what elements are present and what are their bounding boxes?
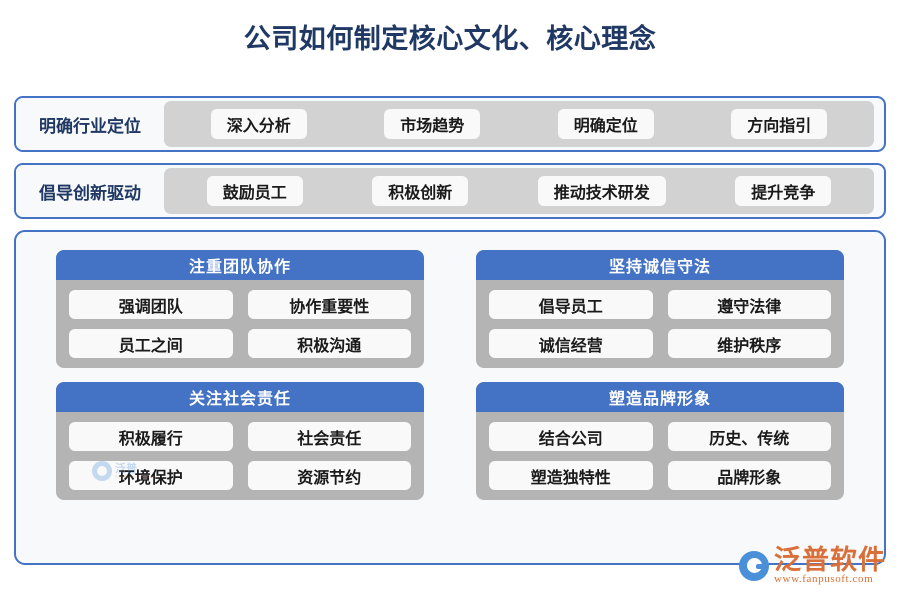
card-header: 坚持诚信守法 [476,250,844,280]
row-item-pill[interactable]: 市场趋势 [384,109,480,139]
brand-logo: 泛普软件 www.fanpusoft.com [739,542,886,590]
card-item-pill[interactable]: 品牌形象 [668,461,832,490]
row-item-pill[interactable]: 提升竞争 [735,176,831,206]
page-title: 公司如何制定核心文化、核心理念 [0,20,900,58]
card-brand-image: 塑造品牌形象 结合公司 历史、传统 塑造独特性 品牌形象 [476,382,844,500]
card-body: 积极履行 社会责任 环境保护 资源节约 [56,412,424,490]
row-item-pill[interactable]: 积极创新 [372,176,468,206]
card-item-pill[interactable]: 资源节约 [248,461,412,490]
cards-grid: 注重团队协作 强调团队 协作重要性 员工之间 积极沟通 坚持诚信守法 倡导员工 … [56,250,848,500]
top-row-industry-positioning: 明确行业定位 深入分析 市场趋势 明确定位 方向指引 [14,96,886,152]
card-item-pill[interactable]: 结合公司 [489,422,653,451]
diagram-page: 公司如何制定核心文化、核心理念 明确行业定位 深入分析 市场趋势 明确定位 方向… [0,0,900,600]
card-item-pill[interactable]: 塑造独特性 [489,461,653,490]
cards-container: 注重团队协作 强调团队 协作重要性 员工之间 积极沟通 坚持诚信守法 倡导员工 … [14,230,886,565]
brand-name: 泛普软件 [774,546,886,574]
card-header: 塑造品牌形象 [476,382,844,412]
card-item-pill[interactable]: 员工之间 [69,329,233,358]
row-label: 明确行业定位 [16,98,164,150]
card-body: 结合公司 历史、传统 塑造独特性 品牌形象 [476,412,844,490]
row-item-pill[interactable]: 方向指引 [731,109,827,139]
card-item-pill[interactable]: 诚信经营 [489,329,653,358]
card-team-collaboration: 注重团队协作 强调团队 协作重要性 员工之间 积极沟通 [56,250,424,368]
card-header: 关注社会责任 [56,382,424,412]
card-item-pill[interactable]: 环境保护 [69,461,233,490]
row-item-pill[interactable]: 明确定位 [558,109,654,139]
card-item-pill[interactable]: 协作重要性 [248,290,412,319]
row-item-pill[interactable]: 鼓励员工 [207,176,303,206]
brand-texts: 泛普软件 www.fanpusoft.com [774,546,886,586]
card-item-pill[interactable]: 倡导员工 [489,290,653,319]
card-integrity-law: 坚持诚信守法 倡导员工 遵守法律 诚信经营 维护秩序 [476,250,844,368]
row-label: 倡导创新驱动 [16,165,164,217]
card-item-pill[interactable]: 维护秩序 [668,329,832,358]
row-items-band: 鼓励员工 积极创新 推动技术研发 提升竞争 [164,168,874,214]
brand-url: www.fanpusoft.com [774,574,886,586]
row-item-pill[interactable]: 推动技术研发 [538,176,666,206]
card-item-pill[interactable]: 强调团队 [69,290,233,319]
row-item-pill[interactable]: 深入分析 [211,109,307,139]
card-body: 强调团队 协作重要性 员工之间 积极沟通 [56,280,424,358]
card-item-pill[interactable]: 积极履行 [69,422,233,451]
card-item-pill[interactable]: 历史、传统 [668,422,832,451]
top-row-innovation-driven: 倡导创新驱动 鼓励员工 积极创新 推动技术研发 提升竞争 [14,163,886,219]
card-item-pill[interactable]: 遵守法律 [668,290,832,319]
card-body: 倡导员工 遵守法律 诚信经营 维护秩序 [476,280,844,358]
card-social-responsibility: 关注社会责任 积极履行 社会责任 环境保护 资源节约 [56,382,424,500]
card-item-pill[interactable]: 社会责任 [248,422,412,451]
card-item-pill[interactable]: 积极沟通 [248,329,412,358]
row-items-band: 深入分析 市场趋势 明确定位 方向指引 [164,101,874,147]
fanpu-logo-icon [739,551,769,581]
card-header: 注重团队协作 [56,250,424,280]
